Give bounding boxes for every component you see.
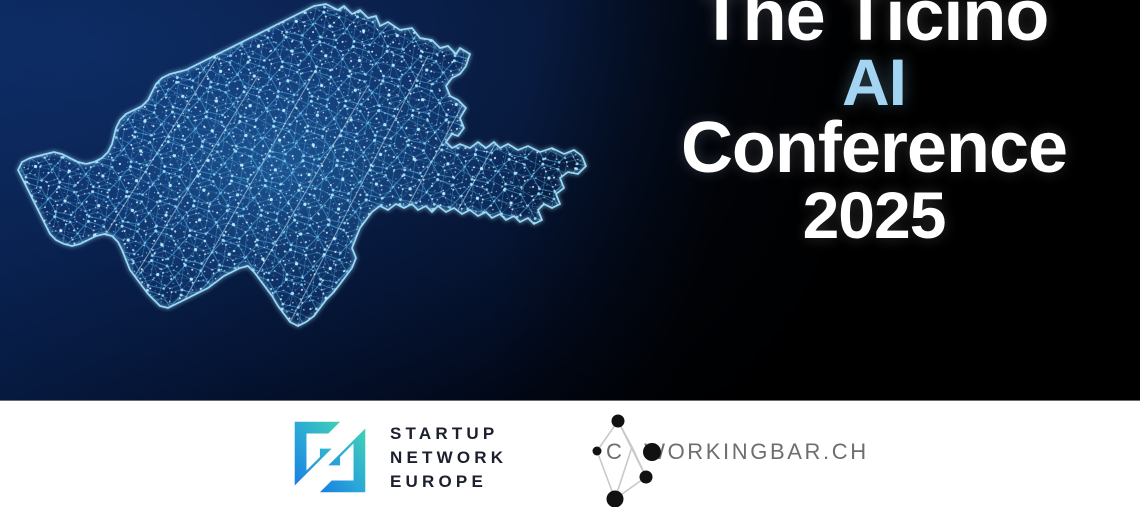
- headline-line-2-ai: AI: [624, 51, 1124, 114]
- page-title: The Ticino AI Conference 2025: [624, 0, 1124, 247]
- startup-network-europe-logo-icon: [288, 415, 372, 499]
- headline-line-3: Conference: [624, 114, 1124, 183]
- switzerland-map-svg: [8, 0, 608, 396]
- sponsor-startup-network-europe[interactable]: STARTUP NETWORK EUROPE: [288, 415, 507, 499]
- sne-line-2: NETWORK: [390, 449, 507, 466]
- coworkingbar-wordmark-suffix: WORKINGBAR.CH: [644, 439, 868, 464]
- coworkingbar-wordmark-prefix: C: [606, 439, 625, 464]
- startup-network-europe-wordmark: STARTUP NETWORK EUROPE: [390, 425, 507, 490]
- coworkingbar-o-dot-icon: [643, 443, 661, 461]
- map-fill-group: [8, 0, 608, 396]
- conference-poster: The Ticino AI Conference 2025: [0, 0, 1140, 508]
- sponsor-bar: STARTUP NETWORK EUROPE: [0, 400, 1140, 508]
- sne-line-3: EUROPE: [390, 473, 507, 490]
- headline-line-1: The Ticino: [624, 0, 1124, 51]
- hero-section: The Ticino AI Conference 2025: [0, 0, 1140, 400]
- switzerland-network-map: [8, 0, 608, 396]
- headline-line-4-year: 2025: [624, 184, 1124, 247]
- sne-line-1: STARTUP: [390, 425, 507, 442]
- sponsor-coworkingbar[interactable]: COWORKINGBAR.CH: [588, 407, 878, 507]
